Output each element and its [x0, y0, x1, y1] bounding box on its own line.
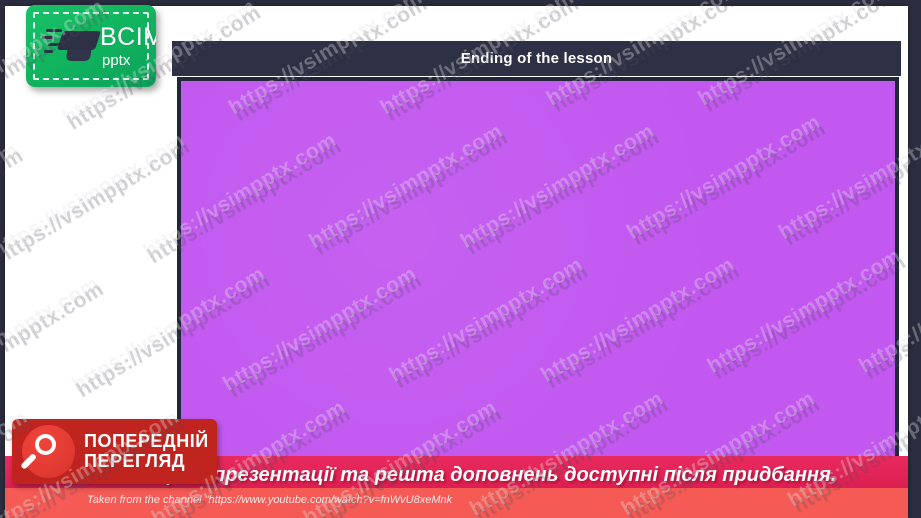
screenshot-root: https://vsimpptx.comhttps://vsimpptx.com… — [0, 0, 921, 518]
banner-source-caption: Taken from the channel "https://www.yout… — [87, 494, 827, 506]
slide-title-bar: Ending of the lesson — [172, 41, 901, 76]
watermark-text: https://vsimpptx.com — [5, 277, 108, 411]
page-title: Ending of the lesson — [461, 50, 613, 67]
preview-badge-line2: ПЕРЕГЛЯД — [84, 451, 209, 471]
preview-badge-label: ПОПЕРЕДНІЙ ПЕРЕГЛЯД — [84, 431, 209, 471]
logo-brand-text: BCIM — [100, 25, 156, 50]
magnifier-icon — [22, 425, 75, 478]
graduation-cap-icon — [60, 29, 102, 63]
logo-brand-sub-text: pptx — [102, 53, 130, 68]
preview-badge[interactable]: ПОПЕРЕДНІЙ ПЕРЕГЛЯД — [12, 419, 217, 484]
watermark-text: https://vsimpptx.com — [5, 143, 27, 277]
slide-content-panel — [177, 77, 899, 462]
preview-badge-line1: ПОПЕРЕДНІЙ — [84, 431, 209, 451]
watermark-text: https://vsimpptx.com — [5, 135, 194, 269]
bcim-logo[interactable]: BCIM pptx — [26, 5, 156, 87]
